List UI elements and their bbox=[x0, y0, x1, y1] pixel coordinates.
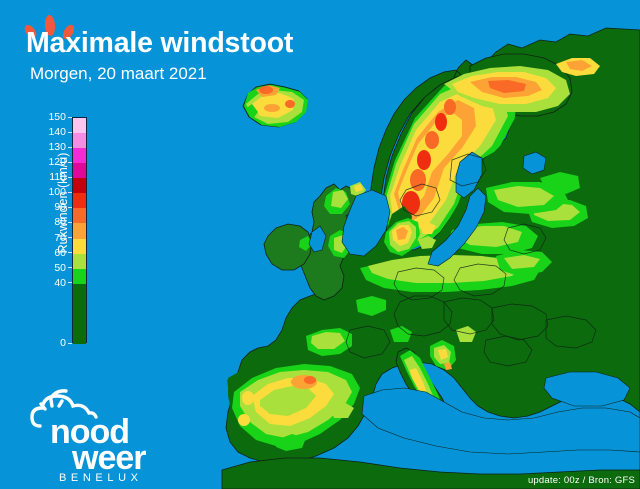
colorbar-tick-130: 130 bbox=[48, 141, 72, 153]
colorbar-band-100-110 bbox=[73, 178, 86, 193]
colorbar-tick-60: 60 bbox=[54, 247, 72, 259]
page-subtitle: Morgen, 20 maart 2021 bbox=[30, 64, 207, 84]
colorbar-band-40-50 bbox=[73, 269, 86, 284]
colorbar-tick-label: 140 bbox=[48, 126, 66, 138]
colorbar-tick-label: 90 bbox=[54, 201, 66, 213]
colorbar-tick-label: 150 bbox=[48, 111, 66, 123]
colorbar-band-140-150 bbox=[73, 118, 86, 133]
colorbar-band-130-140 bbox=[73, 133, 86, 148]
colorbar-tick-mark bbox=[68, 147, 72, 148]
colorbar-tick-mark bbox=[68, 252, 72, 253]
colorbar-band-80-90 bbox=[73, 208, 86, 223]
colorbar-tick-mark bbox=[68, 132, 72, 133]
colorbar-tick-label: 110 bbox=[49, 171, 66, 183]
logo-graphic: nood weer BENELUX bbox=[28, 386, 178, 482]
colorbar-tick-mark bbox=[68, 282, 72, 283]
colorbar-band-70-80 bbox=[73, 223, 86, 238]
colorbar-tick-50: 50 bbox=[54, 262, 72, 274]
colorbar-tick-150: 150 bbox=[48, 111, 72, 123]
colorbar-band-0-40 bbox=[73, 284, 86, 344]
colorbar-tick-90: 90 bbox=[54, 201, 72, 213]
colorbar-tick-mark bbox=[68, 237, 72, 238]
colorbar-tick-label: 80 bbox=[54, 216, 66, 228]
colorbar-band-110-120 bbox=[73, 163, 86, 178]
colorbar-tick-40: 40 bbox=[54, 277, 72, 289]
colorbar-tick-140: 140 bbox=[48, 126, 72, 138]
colorbar-tick-0: 0 bbox=[60, 337, 72, 349]
colorbar-tick-80: 80 bbox=[54, 216, 72, 228]
colorbar-tick-mark bbox=[68, 177, 72, 178]
colorbar-tick-100: 100 bbox=[48, 186, 72, 198]
colorbar-tick-mark bbox=[68, 343, 72, 344]
colorbar-tick-mark bbox=[68, 192, 72, 193]
colorbar-tick-label: 130 bbox=[48, 141, 66, 153]
colorbar-tick-label: 100 bbox=[48, 186, 66, 198]
colorbar-tick-mark bbox=[68, 162, 72, 163]
colorbar-band-120-130 bbox=[73, 148, 86, 163]
colorbar-tick-mark bbox=[68, 222, 72, 223]
colorbar-tick-120: 120 bbox=[48, 156, 72, 168]
colorbar-band-50-60 bbox=[73, 254, 86, 269]
colorbar bbox=[72, 117, 87, 343]
colorbar-tick-70: 70 bbox=[54, 232, 72, 244]
colorbar-tick-mark bbox=[68, 207, 72, 208]
colorbar-tick-label: 60 bbox=[54, 247, 66, 259]
colorbar-band-60-70 bbox=[73, 239, 86, 254]
colorbar-tick-label: 40 bbox=[54, 277, 66, 289]
colorbar-tick-mark bbox=[68, 117, 72, 118]
colorbar-legend: Rukwinden (km/u) 15014013012011010090807… bbox=[24, 110, 94, 350]
colorbar-tick-label: 50 bbox=[54, 262, 66, 274]
colorbar-band-90-100 bbox=[73, 193, 86, 208]
colorbar-tick-label: 0 bbox=[60, 337, 66, 349]
colorbar-tick-mark bbox=[68, 267, 72, 268]
logo-tagline: BENELUX bbox=[59, 472, 143, 482]
colorbar-tick-110: 110 bbox=[49, 171, 72, 183]
colorbar-tick-label: 70 bbox=[54, 232, 66, 244]
colorbar-ticks: 1501401301201101009080706050400 bbox=[24, 110, 72, 350]
source-credit: update: 00z / Bron: GFS bbox=[528, 475, 635, 486]
noodweer-benelux-logo[interactable]: nood weer BENELUX bbox=[28, 386, 178, 482]
weather-map-page: Maximale windstoot Morgen, 20 maart 2021… bbox=[0, 0, 640, 489]
page-title: Maximale windstoot bbox=[26, 27, 293, 60]
colorbar-tick-label: 120 bbox=[48, 156, 66, 168]
